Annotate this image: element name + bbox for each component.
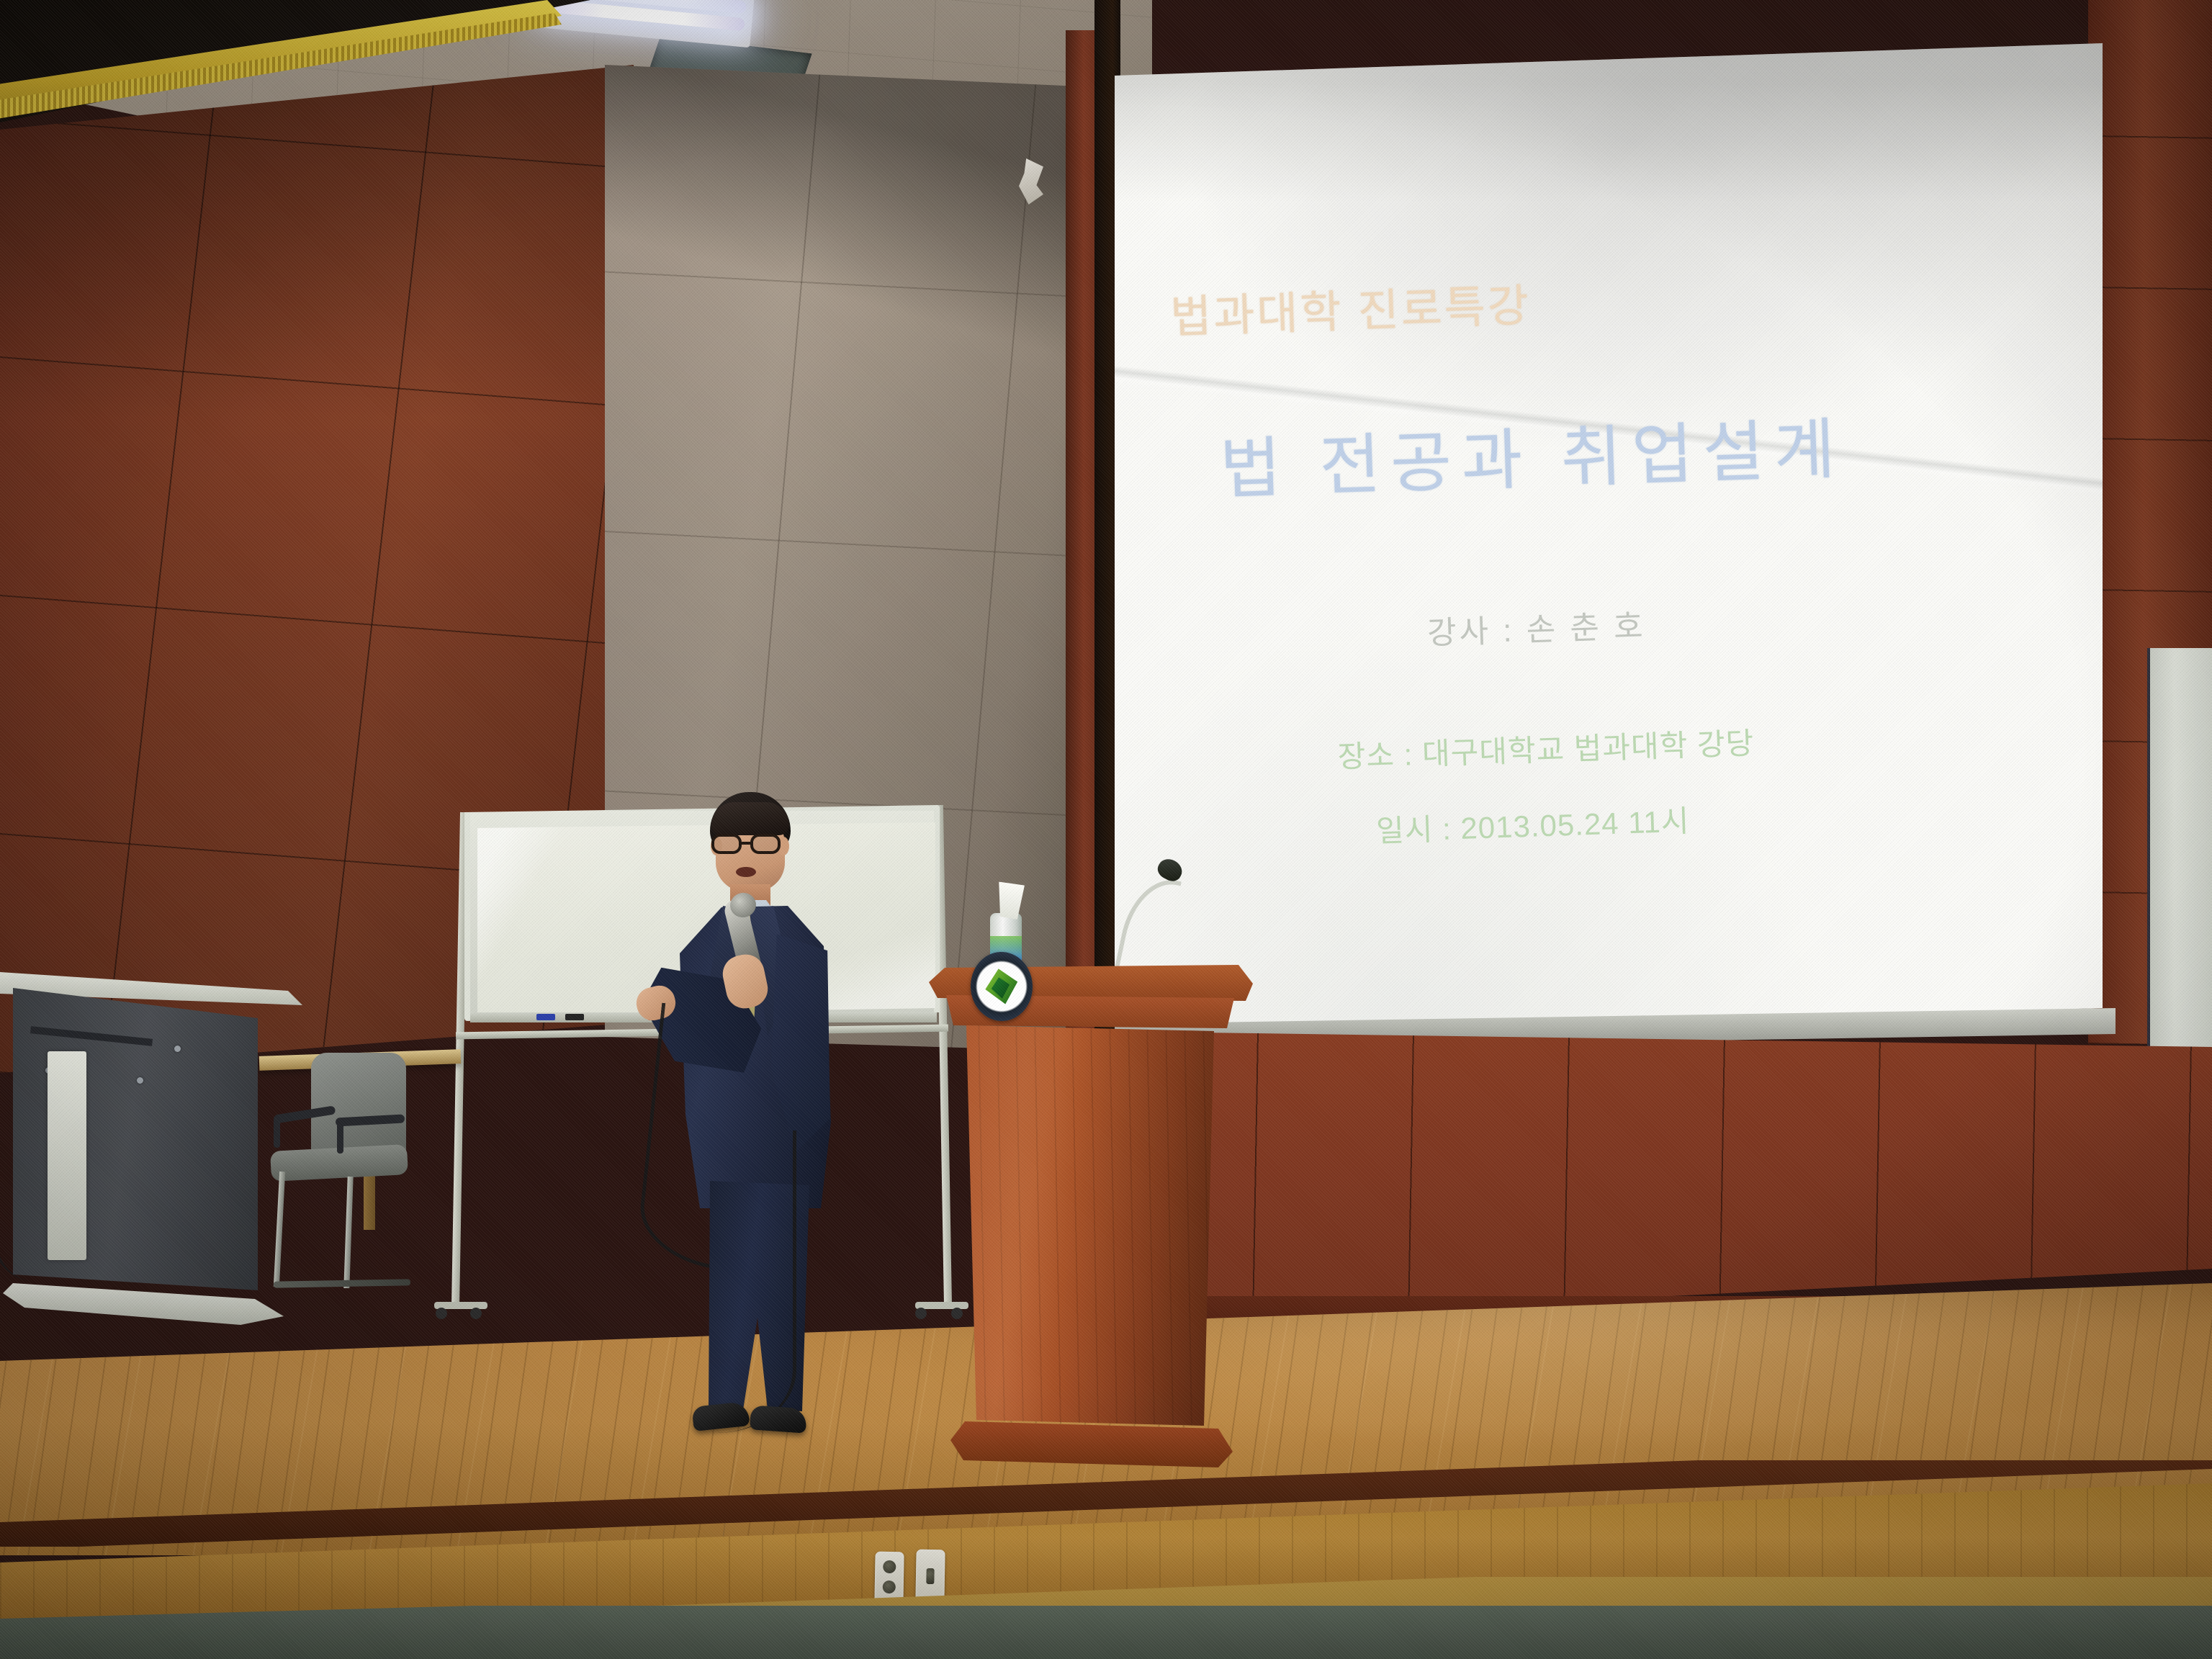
auditorium-floor [0,1606,2212,1659]
lectern-front-panel [48,1051,86,1260]
lectern-vent-slot [30,1026,153,1046]
chair-leg [343,1177,353,1288]
microphone-capsule-icon [1154,855,1185,885]
wooden-podium[interactable] [929,965,1253,1476]
outlet-socket-icon [926,1568,934,1584]
stage-wainscot [1102,1031,2212,1334]
slide-speaker: 강사 : 손 춘 호 [1426,600,1646,653]
presenter [641,792,871,1440]
marker-blue-icon[interactable] [536,1014,555,1020]
microphone-cable [717,1130,796,1433]
mouth [736,867,756,877]
slide-title: 법 전공과 취업설계 [1218,387,2085,512]
lecture-hall-photo: 법과대학 진로특강 법 전공과 취업설계 강사 : 손 춘 호 장소 : 대구대… [0,0,2212,1659]
whiteboard-caster [436,1308,447,1319]
projection-screen: 법과대학 진로특강 법 전공과 취업설계 강사 : 손 춘 호 장소 : 대구대… [1094,0,2124,1051]
eyeglasses-icon [711,834,789,855]
screw-icon [137,1077,143,1084]
single-outlet[interactable] [915,1550,945,1604]
outlet-socket-icon [883,1560,896,1573]
secondary-whiteboard [2147,648,2212,1051]
chair-arm-post [337,1122,343,1154]
screw-icon [174,1046,181,1052]
screen-surface: 법과대학 진로특강 법 전공과 취업설계 강사 : 손 춘 호 장소 : 대구대… [1115,43,2103,1037]
whiteboard-caster [915,1308,927,1319]
lectern-base [3,1283,284,1325]
podium-shading [966,1025,1214,1429]
glasses-lens [711,834,742,854]
whiteboard-caster [470,1308,482,1319]
slide-venue: 장소 : 대구대학교 법과대학 강당 [1337,719,1755,776]
marker-black-icon[interactable] [565,1014,584,1020]
wainscot-seams [1102,1031,2212,1334]
outlet-socket-icon [883,1581,896,1593]
hair-fringe [711,802,789,835]
av-control-lectern[interactable] [0,972,302,1346]
slide-kicker: 법과대학 진로특강 [1169,264,1676,346]
slide-date: 일시 : 2013.05.24 11시 [1375,797,1690,851]
podium-body [966,1025,1214,1429]
slide-content: 법과대학 진로특강 법 전공과 취업설계 강사 : 손 춘 호 장소 : 대구대… [1099,27,2119,1053]
podium-base [950,1421,1233,1467]
glasses-lens [750,834,781,854]
